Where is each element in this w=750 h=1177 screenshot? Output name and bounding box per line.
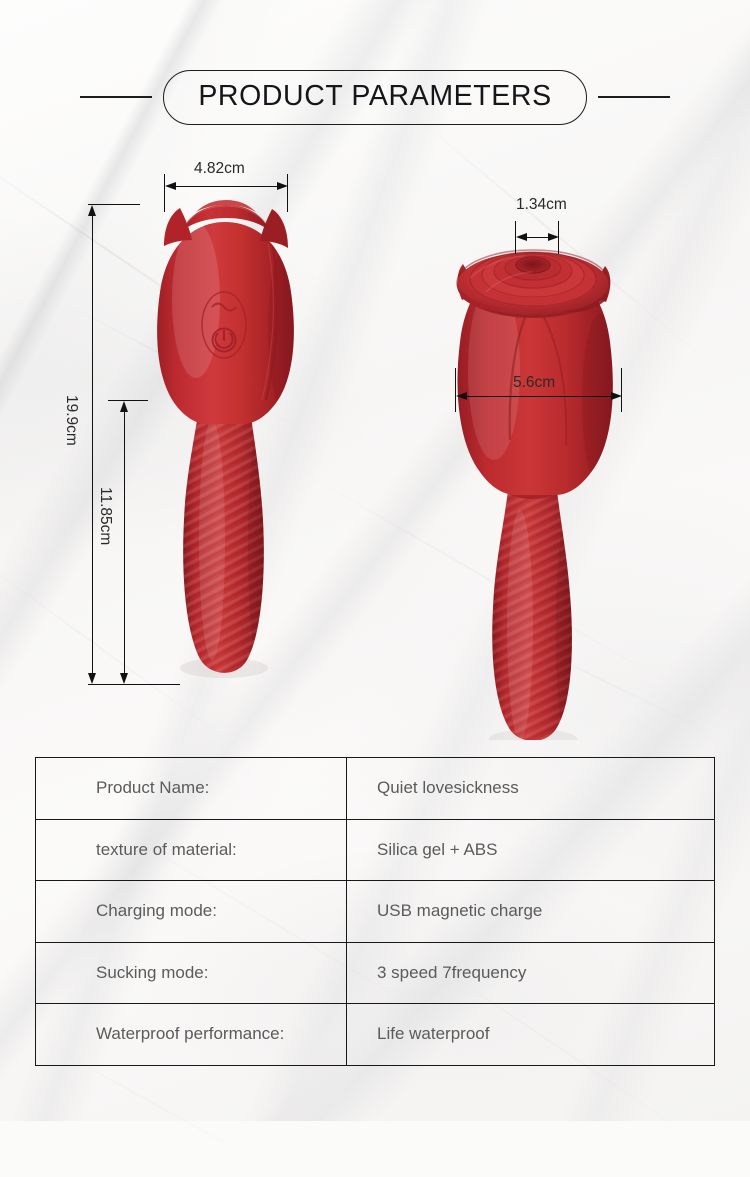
table-row: texture of material: Silica gel + ABS: [36, 819, 715, 881]
spec-label: Product Name:: [36, 758, 347, 820]
dimension-label-total-length: 19.9cm: [62, 395, 80, 446]
specification-table: Product Name: Quiet lovesickness texture…: [35, 757, 715, 1066]
dimension-label-suction-hole: 1.34cm: [516, 196, 567, 214]
dimension-label-handle-length: 11.85cm: [96, 487, 114, 545]
spec-label: Sucking mode:: [36, 942, 347, 1004]
spec-value: USB magnetic charge: [347, 881, 715, 943]
spec-value: Life waterproof: [347, 1004, 715, 1066]
dimension-label-head-width: 5.6cm: [513, 374, 555, 392]
spec-label: Charging mode:: [36, 881, 347, 943]
table-row: Product Name: Quiet lovesickness: [36, 758, 715, 820]
table-row: Sucking mode: 3 speed 7frequency: [36, 942, 715, 1004]
spec-value: Quiet lovesickness: [347, 758, 715, 820]
spec-value: 3 speed 7frequency: [347, 942, 715, 1004]
specification-table-body: Product Name: Quiet lovesickness texture…: [36, 758, 715, 1066]
spec-label: texture of material:: [36, 819, 347, 881]
table-row: Waterproof performance: Life waterproof: [36, 1004, 715, 1066]
product-right-image: [457, 250, 618, 740]
dimension-label-width-top: 4.82cm: [194, 160, 245, 178]
product-images: [0, 0, 750, 740]
product-left-image: [157, 200, 300, 685]
spec-value: Silica gel + ABS: [347, 819, 715, 881]
suction-hole: [516, 258, 550, 274]
product-illustration-stage: 4.82cm 19.9cm 11.85cm 1.34cm 5.6cm: [0, 0, 750, 740]
spec-label: Waterproof performance:: [36, 1004, 347, 1066]
table-row: Charging mode: USB magnetic charge: [36, 881, 715, 943]
